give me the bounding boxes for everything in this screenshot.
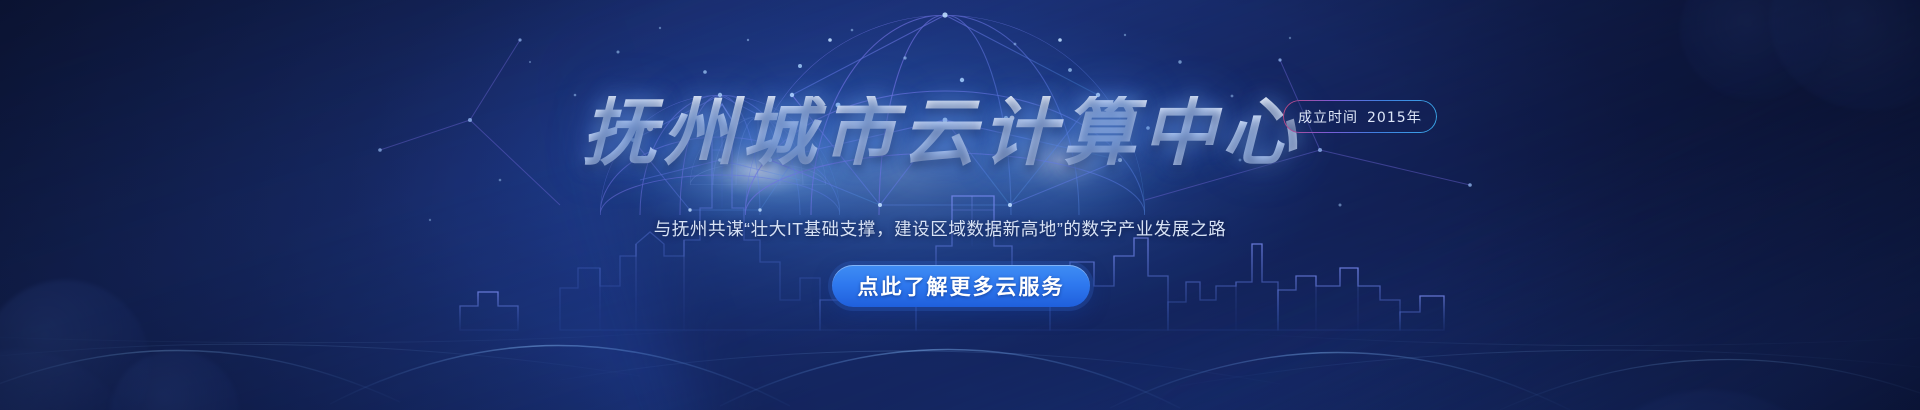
badge-value: 2015年 [1367,107,1422,127]
badge-label: 成立时间 [1298,107,1358,127]
hero-banner: 抚州城市云计算中心 成立时间 2015年 与抚州共谋“壮大IT基础支撑，建设区域… [0,0,1920,410]
page-subtitle: 与抚州共谋“壮大IT基础支撑，建设区域数据新高地”的数字产业发展之路 [0,216,1900,241]
page-title: 抚州城市云计算中心 [0,96,1902,170]
founding-year-badge: 成立时间 2015年 [1283,100,1437,133]
banner-content: 抚州城市云计算中心 成立时间 2015年 与抚州共谋“壮大IT基础支撑，建设区域… [0,0,1920,410]
learn-more-cloud-services-button[interactable]: 点此了解更多云服务 [832,265,1090,307]
